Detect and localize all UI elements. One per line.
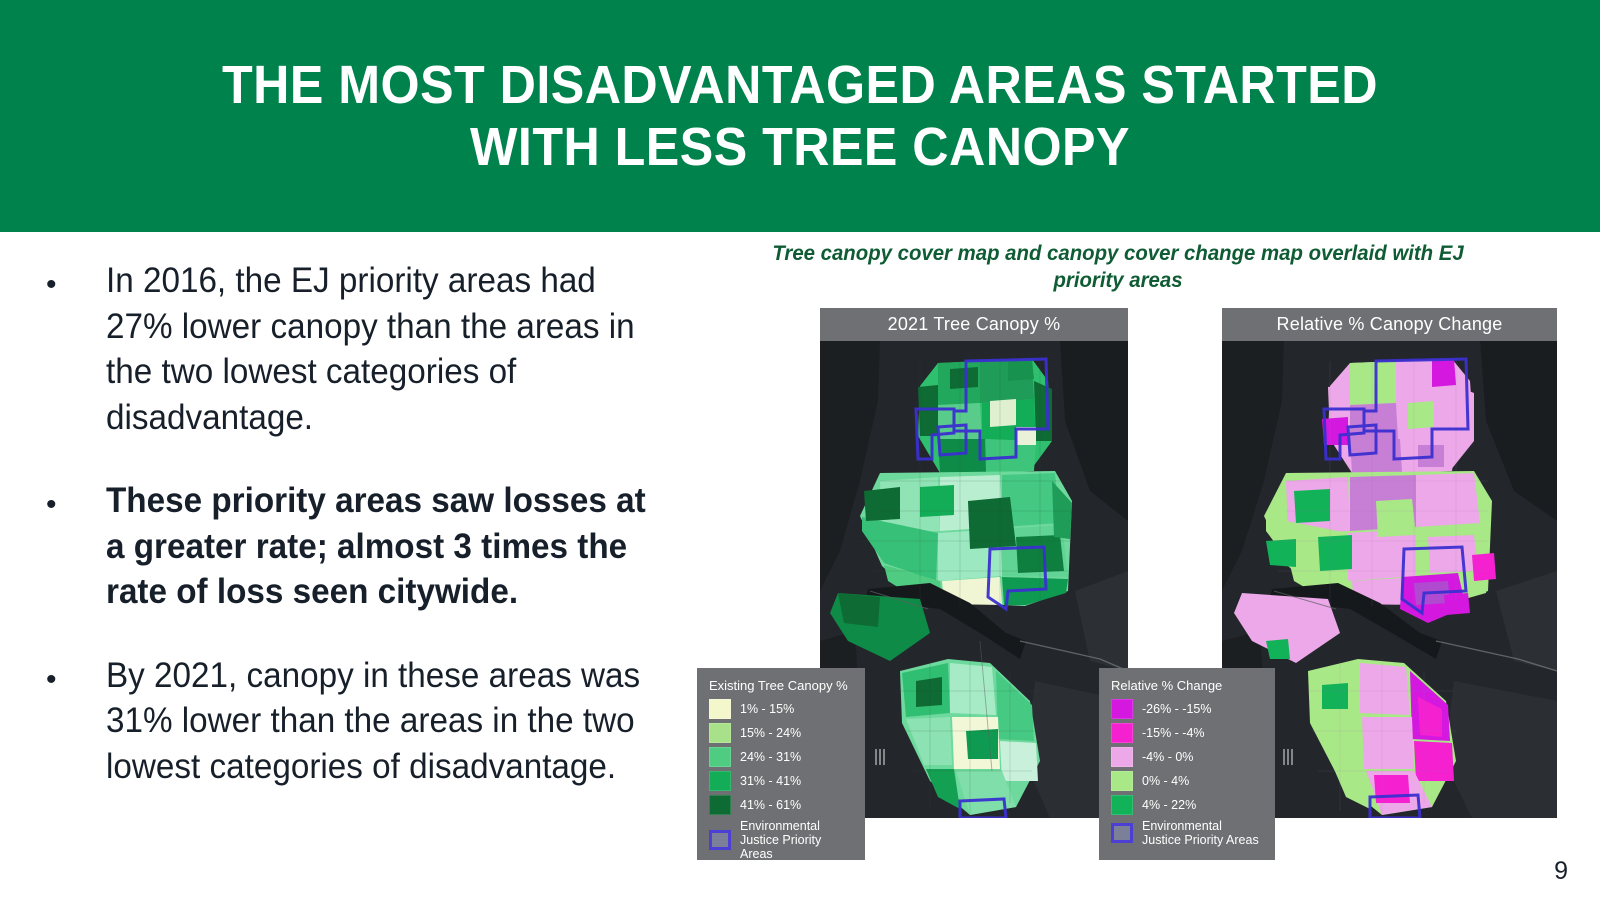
legend-label: Environmental Justice Priority Areas <box>1142 819 1263 847</box>
legend-label: 4% - 22% <box>1142 798 1196 812</box>
legend-item: 15% - 24% <box>709 723 853 743</box>
legend-label: -15% - -4% <box>1142 726 1205 740</box>
legend-swatch-icon <box>709 723 731 743</box>
list-item: • By 2021, canopy in these areas was 31%… <box>34 653 684 790</box>
bullet-text: In 2016, the EJ priority areas had 27% l… <box>106 258 655 440</box>
list-item: • These priority areas saw losses at a g… <box>34 478 684 615</box>
maps-caption: Tree canopy cover map and canopy cover c… <box>749 240 1486 295</box>
legend-label: 24% - 31% <box>740 750 801 764</box>
legend-swatch-icon <box>709 699 731 719</box>
map-title-tree-canopy: 2021 Tree Canopy % <box>820 308 1128 341</box>
legend-label: 1% - 15% <box>740 702 794 716</box>
legend-item-ej: Environmental Justice Priority Areas <box>709 819 853 861</box>
legend-swatch-icon <box>1111 795 1133 815</box>
bullet-marker-icon: • <box>34 478 106 520</box>
legend-tree-canopy: Existing Tree Canopy % 1% - 15% 15% - 24… <box>697 668 865 860</box>
bullet-marker-icon: • <box>34 258 106 300</box>
legend-item: -26% - -15% <box>1111 699 1263 719</box>
bullet-list: • In 2016, the EJ priority areas had 27%… <box>34 258 684 827</box>
legend-swatch-icon <box>1111 771 1133 791</box>
legend-label: Environmental Justice Priority Areas <box>740 819 853 861</box>
ej-priority-outline-icon <box>1111 823 1133 843</box>
map-panel-tree-canopy[interactable]: 2021 Tree Canopy % <box>820 308 1128 818</box>
page-number: 9 <box>1554 857 1568 886</box>
legend-item: -4% - 0% <box>1111 747 1263 767</box>
legend-label: 41% - 61% <box>740 798 801 812</box>
choropleth-tree-canopy <box>820 341 1128 818</box>
legend-item: -15% - -4% <box>1111 723 1263 743</box>
legend-swatch-icon <box>1111 699 1133 719</box>
list-item: • In 2016, the EJ priority areas had 27%… <box>34 258 684 440</box>
page-title: THE MOST DISADVANTAGED AREAS STARTED WIT… <box>186 54 1414 178</box>
legend-swatch-icon <box>709 771 731 791</box>
legend-swatch-icon <box>709 747 731 767</box>
legend-item: 4% - 22% <box>1111 795 1263 815</box>
legend-item: 41% - 61% <box>709 795 853 815</box>
legend-swatch-icon <box>1111 747 1133 767</box>
legend-item: 31% - 41% <box>709 771 853 791</box>
ej-priority-outline-icon <box>709 830 731 850</box>
legend-swatch-icon <box>709 795 731 815</box>
bullet-text: These priority areas saw losses at a gre… <box>106 478 655 615</box>
legend-label: 31% - 41% <box>740 774 801 788</box>
legend-label: -26% - -15% <box>1142 702 1211 716</box>
legend-label: 0% - 4% <box>1142 774 1189 788</box>
legend-title: Relative % Change <box>1111 678 1263 693</box>
legend-item: 24% - 31% <box>709 747 853 767</box>
legend-item: 0% - 4% <box>1111 771 1263 791</box>
legend-canopy-change: Relative % Change -26% - -15% -15% - -4%… <box>1099 668 1275 860</box>
legend-item-ej: Environmental Justice Priority Areas <box>1111 819 1263 847</box>
bullet-text: By 2021, canopy in these areas was 31% l… <box>106 653 655 790</box>
legend-label: 15% - 24% <box>740 726 801 740</box>
map-title-canopy-change: Relative % Canopy Change <box>1222 308 1557 341</box>
map-canvas-tree-canopy[interactable] <box>820 341 1128 818</box>
bullet-marker-icon: • <box>34 653 106 695</box>
legend-label: -4% - 0% <box>1142 750 1193 764</box>
slide-header-banner: THE MOST DISADVANTAGED AREAS STARTED WIT… <box>0 0 1600 232</box>
legend-swatch-icon <box>1111 723 1133 743</box>
legend-item: 1% - 15% <box>709 699 853 719</box>
legend-title: Existing Tree Canopy % <box>709 678 853 693</box>
